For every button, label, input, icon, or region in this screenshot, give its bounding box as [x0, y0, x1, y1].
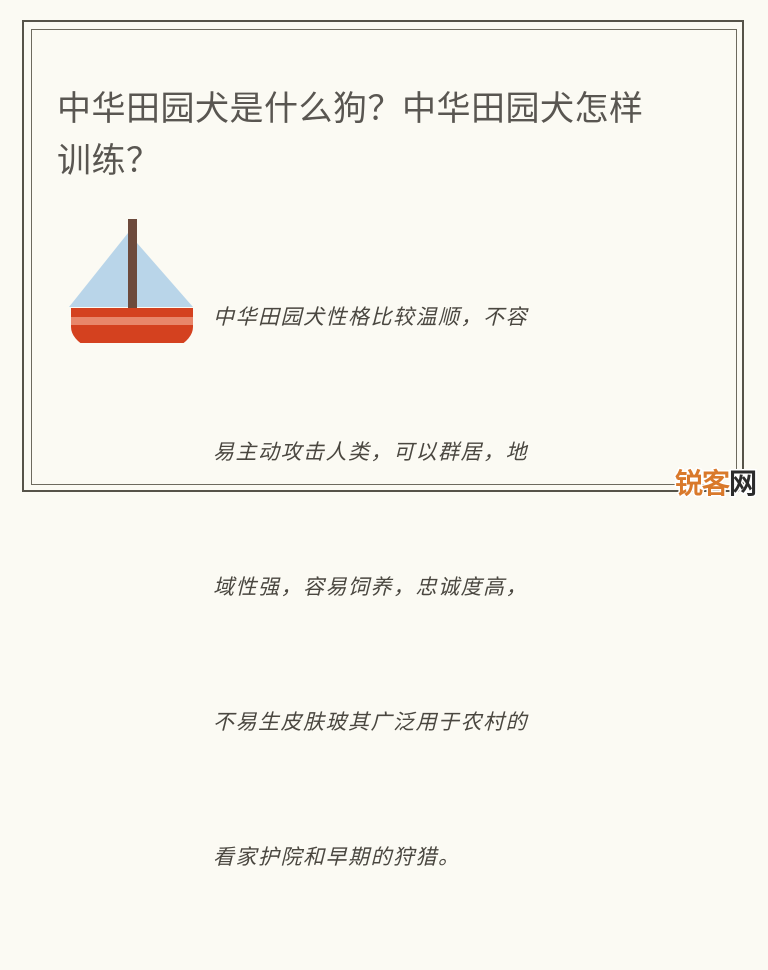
- article-page: 中华田园犬是什么狗？中华田园犬怎样训练？ 中华田园犬性格比较温顺，不容 易主动攻…: [0, 0, 768, 510]
- watermark-text-secondary: 网: [729, 467, 756, 500]
- page-title: 中华田园犬是什么狗？中华田园犬怎样训练？: [57, 83, 657, 187]
- sailboat-icon: [67, 215, 197, 343]
- body-line: 易主动攻击人类，可以群居，地: [213, 430, 697, 475]
- body-line: 看家护院和早期的狩猎。: [213, 835, 697, 880]
- article-body-text: 中华田园犬性格比较温顺，不容 易主动攻击人类，可以群居，地 域性强，容易饲养，忠…: [207, 205, 697, 970]
- body-line: 不易生皮肤玻其广泛用于农村的: [213, 700, 697, 745]
- article-content: 中华田园犬性格比较温顺，不容 易主动攻击人类，可以群居，地 域性强，容易饲养，忠…: [57, 205, 697, 970]
- site-watermark: 锐客网: [675, 470, 756, 498]
- body-line: 中华田园犬性格比较温顺，不容: [213, 295, 697, 340]
- body-line: 域性强，容易饲养，忠诚度高，: [213, 565, 697, 610]
- watermark-text-primary: 锐客: [675, 467, 729, 500]
- sailboat-figure: [57, 205, 207, 343]
